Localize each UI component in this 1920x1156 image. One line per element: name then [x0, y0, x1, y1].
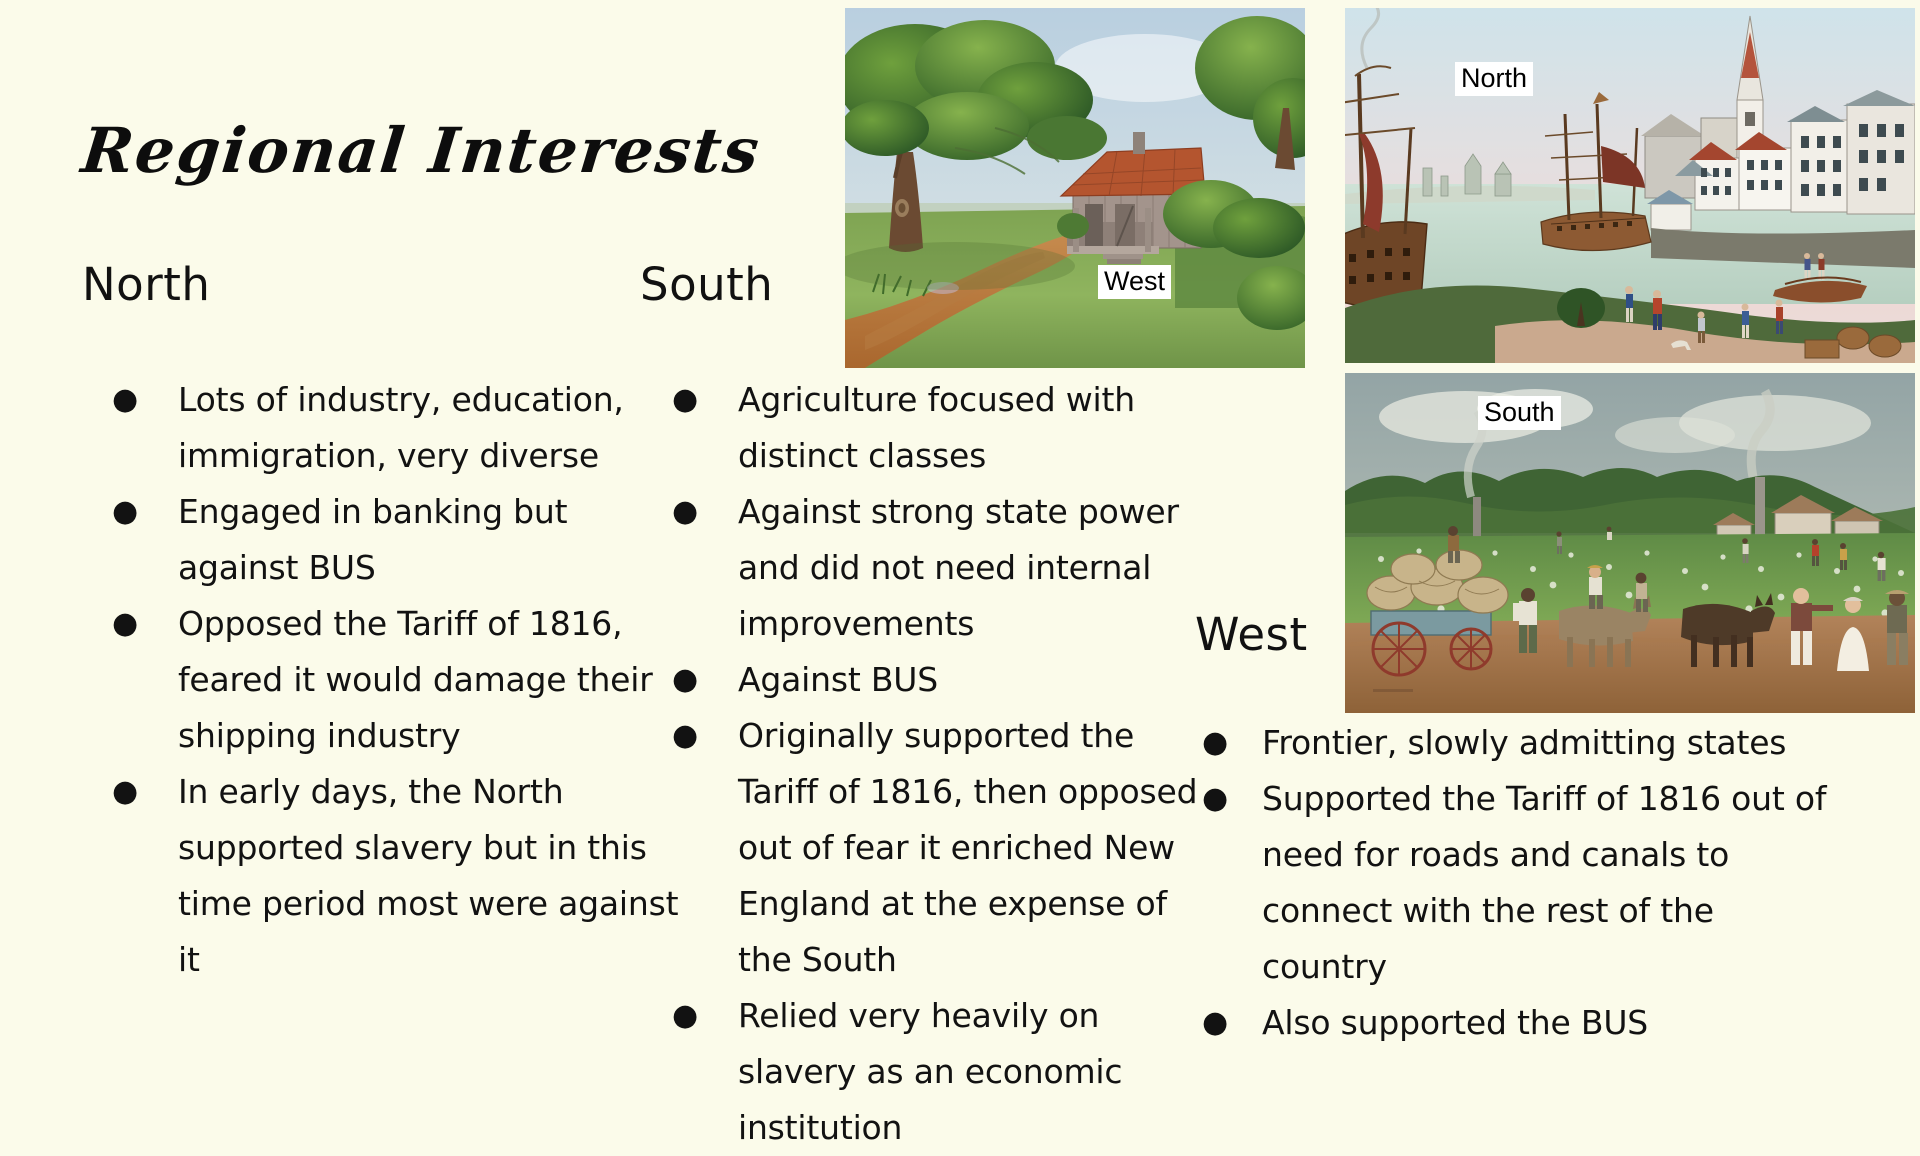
bullet-list-north: ● Lots of industry, education, immigrati…: [80, 372, 680, 988]
bullet-list-south: ● Agriculture focused with distinct clas…: [640, 372, 1210, 1156]
bullet-icon: ●: [672, 988, 698, 1044]
bullet-list-west: ● Frontier, slowly admitting states ● Su…: [1190, 715, 1830, 1051]
page-title: Regional Interests: [78, 114, 764, 187]
list-item: ● Relied very heavily on slavery as an e…: [640, 988, 1210, 1156]
bullet-icon: ●: [112, 764, 138, 820]
bullet-icon: ●: [1202, 715, 1228, 771]
slide-canvas: Regional Interests North ● Lots of indus…: [0, 0, 1920, 1080]
bullet-icon: ●: [672, 652, 698, 708]
column-heading-north: North: [82, 258, 210, 311]
list-item-text: Against strong state power and did not n…: [738, 492, 1179, 643]
list-item: ● Against strong state power and did not…: [640, 484, 1210, 652]
list-item: ● Originally supported the Tariff of 181…: [640, 708, 1210, 988]
list-item: ● Agriculture focused with distinct clas…: [640, 372, 1210, 484]
list-item: ● Supported the Tariff of 1816 out of ne…: [1190, 771, 1830, 995]
image-south-plantation: [1345, 373, 1915, 713]
column-heading-west: West: [1195, 608, 1308, 661]
bullet-icon: ●: [672, 484, 698, 540]
list-item: ● Opposed the Tariff of 1816, feared it …: [80, 596, 680, 764]
list-item-text: Also supported the BUS: [1262, 1003, 1648, 1042]
image-label-south: South: [1478, 396, 1561, 430]
image-label-north: North: [1455, 62, 1533, 96]
list-item-text: Engaged in banking but against BUS: [178, 492, 567, 587]
list-item-text: In early days, the North supported slave…: [178, 772, 678, 979]
bullet-icon: ●: [672, 372, 698, 428]
bullet-icon: ●: [1202, 995, 1228, 1051]
list-item: ● Engaged in banking but against BUS: [80, 484, 680, 596]
list-item-text: Opposed the Tariff of 1816, feared it wo…: [178, 604, 653, 755]
image-west-cabin: [845, 8, 1305, 368]
list-item-text: Agriculture focused with distinct classe…: [738, 380, 1135, 475]
list-item-text: Frontier, slowly admitting states: [1262, 723, 1786, 762]
list-item: ● In early days, the North supported sla…: [80, 764, 680, 988]
bullet-icon: ●: [112, 372, 138, 428]
list-item-text: Against BUS: [738, 660, 938, 699]
list-item: ● Against BUS: [640, 652, 1210, 708]
bullet-icon: ●: [672, 708, 698, 764]
list-item: ● Frontier, slowly admitting states: [1190, 715, 1830, 771]
list-item-text: Relied very heavily on slavery as an eco…: [738, 996, 1122, 1147]
image-north-harbor: [1345, 8, 1915, 363]
list-item-text: Supported the Tariff of 1816 out of need…: [1262, 779, 1826, 986]
image-label-west: West: [1098, 265, 1171, 299]
list-item-text: Originally supported the Tariff of 1816,…: [738, 716, 1197, 979]
bullet-icon: ●: [1202, 771, 1228, 827]
bullet-icon: ●: [112, 484, 138, 540]
list-item: ● Lots of industry, education, immigrati…: [80, 372, 680, 484]
list-item: ● Also supported the BUS: [1190, 995, 1830, 1051]
list-item-text: Lots of industry, education, immigration…: [178, 380, 624, 475]
bullet-icon: ●: [112, 596, 138, 652]
column-heading-south: South: [640, 258, 773, 311]
